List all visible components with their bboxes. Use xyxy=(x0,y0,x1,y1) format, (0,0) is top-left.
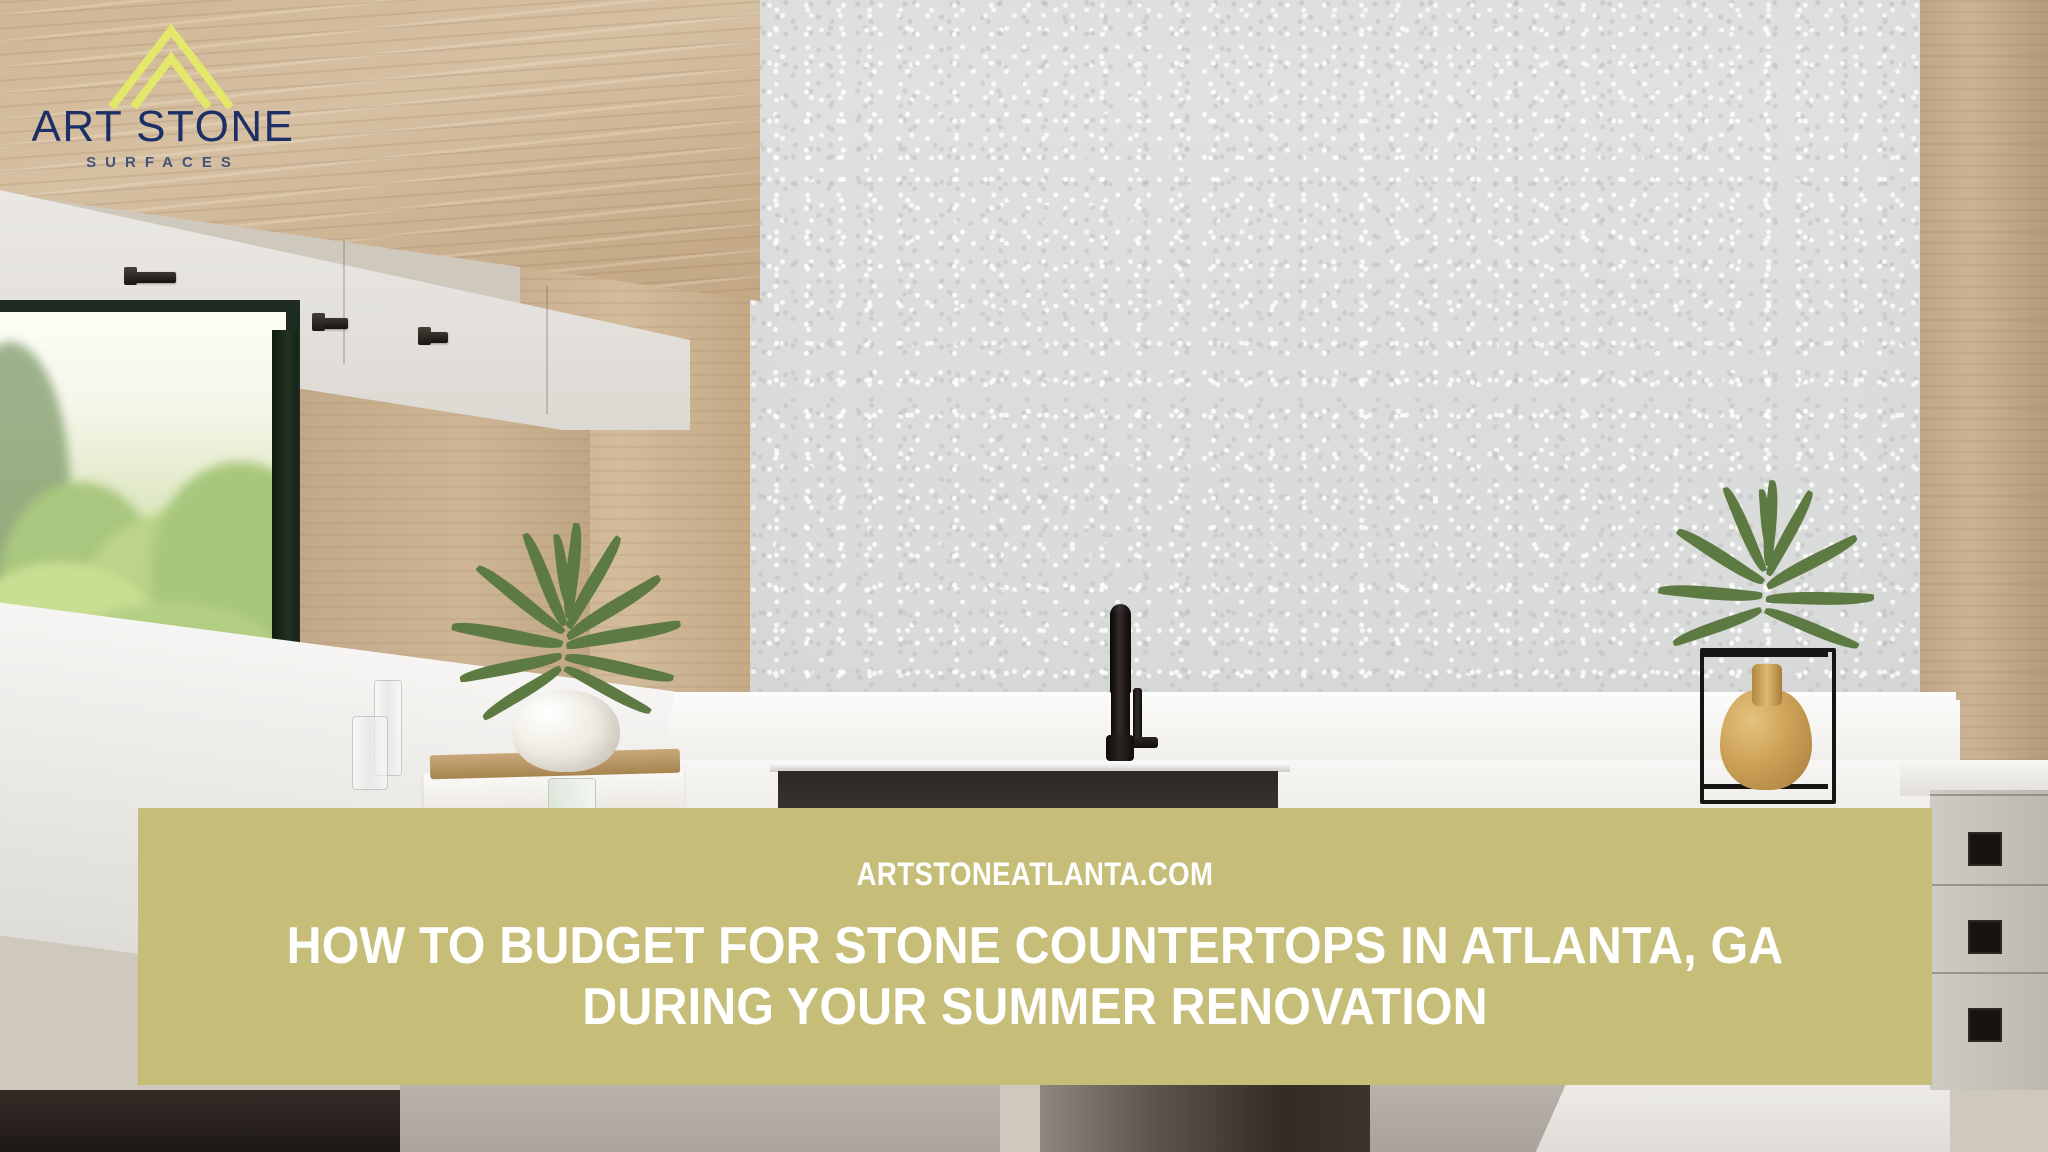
cabinet-seam xyxy=(546,286,548,414)
page-title-line-1: HOW TO BUDGET FOR STONE COUNTERTOPS IN A… xyxy=(287,917,1784,975)
white-ceramic-vase xyxy=(512,690,620,772)
sink-base-front xyxy=(1040,1078,1370,1152)
glass-bottle xyxy=(352,716,388,790)
brand-logo[interactable]: ART STONE SURFACES xyxy=(18,10,308,190)
title-banner: ARTSTONEATLANTA.COM HOW TO BUDGET FOR ST… xyxy=(138,808,1932,1085)
page-title-line-2: DURING YOUR SUMMER RENOVATION xyxy=(582,978,1487,1036)
chevron-roof-icon xyxy=(106,18,236,110)
drawer-knob xyxy=(1968,832,2002,866)
cabinet-handle xyxy=(318,318,348,329)
drawer-seam xyxy=(1930,794,2048,796)
island-panel xyxy=(1530,1075,1950,1152)
cabinet-handle xyxy=(130,272,176,283)
base-cabinet-left xyxy=(0,1090,400,1152)
drawer-knob xyxy=(1968,920,2002,954)
drawer-seam xyxy=(1930,884,2048,886)
page-title: HOW TO BUDGET FOR STONE COUNTERTOPS IN A… xyxy=(238,916,1832,1039)
base-cabinet-center xyxy=(400,1082,1000,1152)
drawer-seam xyxy=(1930,972,2048,974)
brand-name: ART STONE xyxy=(18,105,308,149)
wire-holder-bar xyxy=(1700,652,1828,657)
website-url[interactable]: ARTSTONEATLANTA.COM xyxy=(264,856,1807,893)
promotional-image: ART STONE SURFACES ARTSTONEATLANTA.COM H… xyxy=(0,0,2048,1152)
faucet-column xyxy=(1111,612,1130,742)
wood-panel-right xyxy=(1920,0,2048,790)
brand-tagline: SURFACES xyxy=(18,154,308,171)
amber-glass-vase-neck xyxy=(1752,664,1782,706)
faucet-base xyxy=(1106,735,1134,761)
cabinet-handle xyxy=(424,332,448,343)
cabinet-seam xyxy=(343,240,345,364)
drawer-knob xyxy=(1968,1008,2002,1042)
